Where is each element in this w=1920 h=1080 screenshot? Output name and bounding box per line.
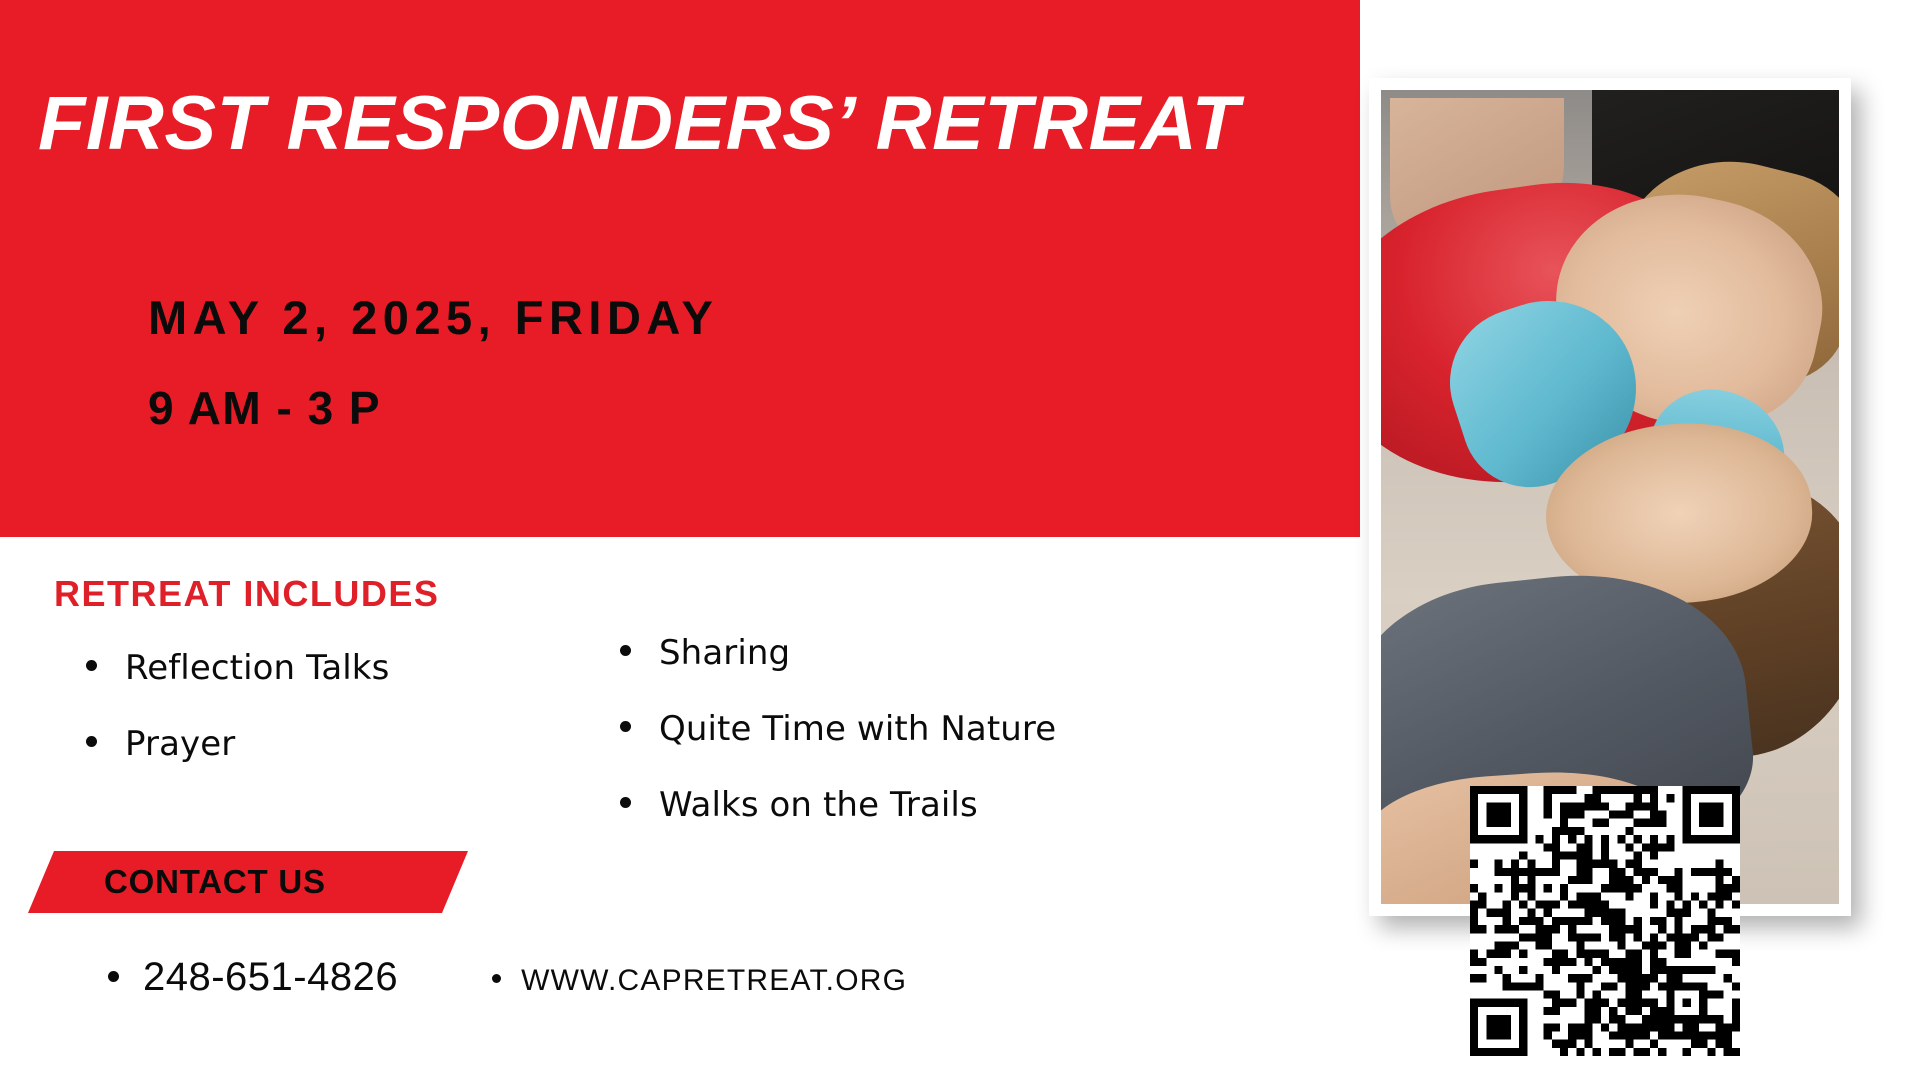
- list-item: Prayer: [86, 724, 389, 764]
- event-date: MAY 2, 2025, FRIDAY: [148, 290, 718, 345]
- list-item-label: Reflection Talks: [125, 648, 389, 688]
- bullet-dot-icon: [108, 971, 119, 982]
- phone-number[interactable]: 248-651-4826: [143, 955, 398, 1000]
- qr-code-icon: [1470, 786, 1740, 1056]
- list-item-label: Sharing: [659, 633, 790, 673]
- list-item: Walks on the Trails: [620, 785, 1056, 825]
- bullet-dot-icon: [492, 974, 501, 983]
- contact-website-item[interactable]: WWW.CAPRETREAT.ORG: [492, 964, 907, 998]
- website-url[interactable]: WWW.CAPRETREAT.ORG: [521, 964, 907, 998]
- first-aid-cpr-photo: [1381, 90, 1839, 904]
- contact-us-banner: CONTACT US: [28, 851, 468, 913]
- list-item-label: Prayer: [125, 724, 235, 764]
- list-item: Sharing: [620, 633, 1056, 673]
- list-item-label: Walks on the Trails: [659, 785, 978, 825]
- list-item: Quite Time with Nature: [620, 709, 1056, 749]
- list-item-label: Quite Time with Nature: [659, 709, 1056, 749]
- event-time: 9 AM - 3 P: [148, 381, 381, 435]
- contact-details: 248-651-4826 WWW.CAPRETREAT.ORG: [108, 955, 907, 1000]
- qr-code[interactable]: [1470, 786, 1740, 1056]
- bullet-dot-icon: [86, 660, 97, 671]
- contact-phone-item[interactable]: 248-651-4826: [108, 955, 398, 1000]
- includes-list-right: Sharing Quite Time with Nature Walks on …: [620, 633, 1056, 861]
- includes-heading: RETREAT INCLUDES: [54, 573, 439, 615]
- list-item: Reflection Talks: [86, 648, 389, 688]
- bullet-dot-icon: [620, 645, 631, 656]
- bullet-dot-icon: [620, 797, 631, 808]
- contact-us-label: CONTACT US: [104, 863, 326, 901]
- includes-list-left: Reflection Talks Prayer: [86, 648, 389, 800]
- page-title: FIRST RESPONDERS’ RETREAT: [38, 86, 1354, 162]
- bullet-dot-icon: [86, 736, 97, 747]
- bullet-dot-icon: [620, 721, 631, 732]
- flyer-poster: FIRST RESPONDERS’ RETREAT MAY 2, 2025, F…: [0, 0, 1920, 1080]
